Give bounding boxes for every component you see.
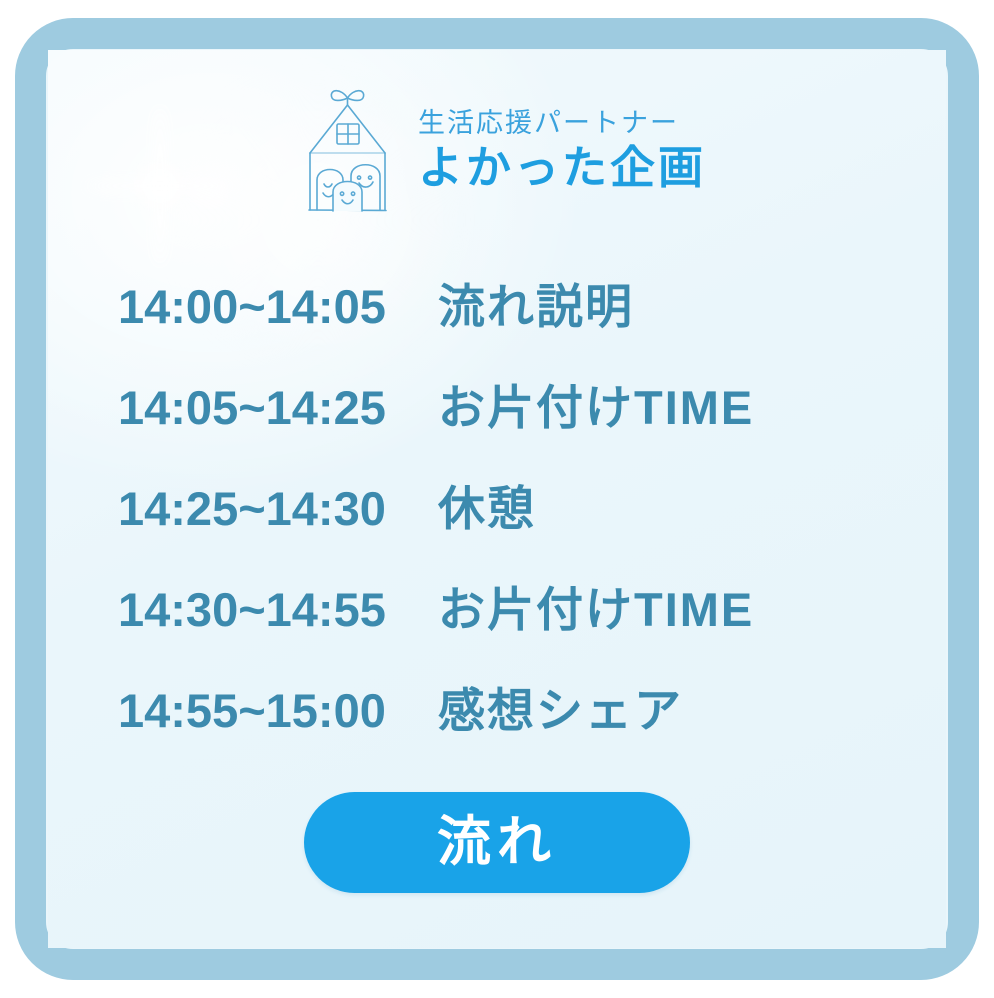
cta-container: 流れ bbox=[48, 792, 946, 893]
schedule-time: 14:30~14:55 bbox=[118, 582, 438, 637]
schedule-time: 14:55~15:00 bbox=[118, 683, 438, 738]
sparkle-star-icon bbox=[76, 102, 244, 270]
schedule-label: 流れ説明 bbox=[438, 268, 634, 337]
schedule-time: 14:05~14:25 bbox=[118, 380, 438, 435]
schedule-row: 14:00~14:05 流れ説明 bbox=[118, 268, 878, 369]
schedule-row: 14:30~14:55 お片付けTIME bbox=[118, 571, 878, 672]
schedule-row: 14:55~15:00 感想シェア bbox=[118, 672, 878, 773]
brand-name: よかった企画 bbox=[418, 143, 706, 193]
schedule-label: 感想シェア bbox=[438, 672, 683, 741]
schedule-row: 14:25~14:30 休憩 bbox=[118, 470, 878, 571]
slide-canvas: 生活応援パートナー よかった企画 14:00~14:05 流れ説明 14:05~… bbox=[0, 0, 994, 998]
schedule-row: 14:05~14:25 お片付けTIME bbox=[118, 369, 878, 470]
schedule-label: お片付けTIME bbox=[438, 571, 754, 640]
brand-tagline: 生活応援パートナー bbox=[418, 109, 706, 139]
house-with-family-and-bow-icon bbox=[300, 80, 396, 216]
schedule-time: 14:25~14:30 bbox=[118, 481, 438, 536]
content-panel: 生活応援パートナー よかった企画 14:00~14:05 流れ説明 14:05~… bbox=[48, 50, 946, 948]
brand-text: 生活応援パートナー よかった企画 bbox=[418, 103, 706, 193]
flow-button[interactable]: 流れ bbox=[304, 792, 690, 893]
schedule-list: 14:00~14:05 流れ説明 14:05~14:25 お片付けTIME 14… bbox=[118, 268, 878, 773]
sparkle-core bbox=[130, 156, 190, 216]
schedule-label: 休憩 bbox=[438, 470, 536, 539]
schedule-time: 14:00~14:05 bbox=[118, 279, 438, 334]
schedule-label: お片付けTIME bbox=[438, 369, 754, 438]
brand-logo: 生活応援パートナー よかった企画 bbox=[300, 80, 706, 216]
